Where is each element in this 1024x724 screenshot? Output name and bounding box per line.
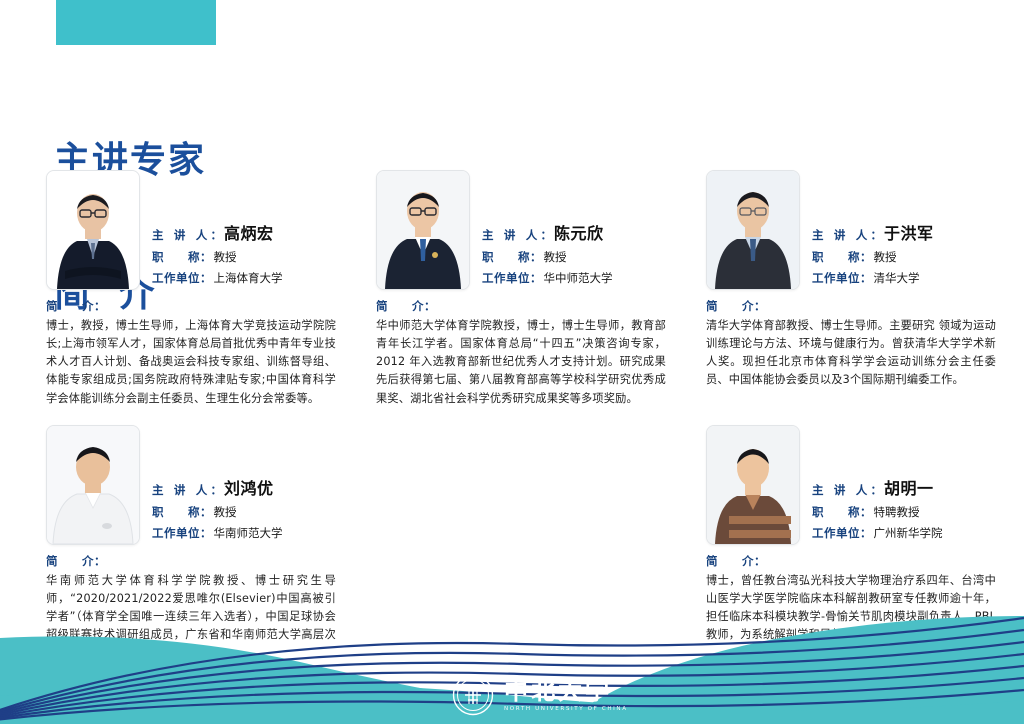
expert-meta: 主 讲 人 ： 刘鸿优 职 称 ： 教授 工作单位 ： 华南师范大学 [152,475,336,545]
job-title-value: 教授 [214,504,237,520]
speaker-label: 主 讲 人 [152,482,211,498]
affiliation-label: 工作单位 [482,270,530,286]
avatar [46,170,140,290]
job-title-row: 职 称 ： 教授 [812,249,996,265]
bio-text: 博士，教授，博士生导师，上海体育大学竞技运动学院院长;上海市领军人才，国家体育总… [46,317,336,408]
speaker-row: 主 讲 人 ： 刘鸿优 [152,475,336,499]
bio-label-text: 简 介 [706,299,754,313]
expert-card[interactable]: 主 讲 人 ： 陈元欣 职 称 ： 教授 工作单位 ： 华中师范大学 [376,170,666,408]
portrait-icon [707,426,799,544]
university-name-cn: 中北大学 [504,678,628,704]
expert-header: 主 讲 人 ： 刘鸿优 职 称 ： 教授 工作单位 ： 华南师范大学 [46,425,336,545]
avatar [376,170,470,290]
university-seal-icon [452,674,494,716]
affiliation-colon: ： [860,525,872,541]
bio-label-colon: ： [424,299,436,313]
bio-label-colon: ： [94,299,106,313]
bio-label-text: 简 介 [376,299,424,313]
affiliation-value: 华中师范大学 [544,270,613,286]
affiliation-row: 工作单位 ： 上海体育大学 [152,270,336,286]
bio-label: 简 介： [706,298,996,314]
university-logo: 中北大学 NORTH UNIVERSITY OF CHINA [452,674,628,716]
affiliation-colon: ： [530,270,542,286]
university-logo-text: 中北大学 NORTH UNIVERSITY OF CHINA [504,678,628,712]
expert-header: 主 讲 人 ： 于洪军 职 称 ： 教授 工作单位 ： 清华大学 [706,170,996,290]
affiliation-value: 上海体育大学 [214,270,283,286]
affiliation-value: 清华大学 [874,270,920,286]
speaker-label: 主 讲 人 [482,227,541,243]
portrait-photo [47,171,139,289]
speaker-colon: ： [541,227,553,243]
bio-text: 华中师范大学体育学院教授，博士，博士生导师，教育部青年长江学者。国家体育总局“十… [376,317,666,408]
expert-name: 高炳宏 [224,220,274,244]
job-title-value: 教授 [544,249,567,265]
job-title-value: 教授 [214,249,237,265]
job-title-label: 职 称 [152,249,200,265]
bio-label-colon: ： [94,554,106,568]
poster-page: 主讲专家 简 介 [0,0,1024,724]
expert-card[interactable]: 主 讲 人 ： 刘鸿优 职 称 ： 教授 工作单位 ： 华南师范大学 [46,425,336,663]
bio-label-text: 简 介 [46,554,94,568]
bio-label: 简 介： [706,553,996,569]
affiliation-row: 工作单位 ： 华中师范大学 [482,270,666,286]
bio-label-text: 简 介 [46,299,94,313]
speaker-row: 主 讲 人 ： 于洪军 [812,220,996,244]
job-title-value: 特聘教授 [874,504,920,520]
bio-label-text: 简 介 [706,554,754,568]
affiliation-row: 工作单位 ： 清华大学 [812,270,996,286]
job-title-label: 职 称 [482,249,530,265]
speaker-label: 主 讲 人 [152,227,211,243]
portrait-photo [707,171,799,289]
expert-header: 主 讲 人 ： 陈元欣 职 称 ： 教授 工作单位 ： 华中师范大学 [376,170,666,290]
portrait-icon [47,426,139,544]
affiliation-label: 工作单位 [152,525,200,541]
bio-text: 清华大学体育部教授、博士生导师。主要研究 领域为运动训练理论与方法、环境与健康行… [706,317,996,390]
expert-name: 刘鸿优 [224,475,274,499]
university-name-en: NORTH UNIVERSITY OF CHINA [504,706,628,712]
job-title-label: 职 称 [812,504,860,520]
speaker-row: 主 讲 人 ： 陈元欣 [482,220,666,244]
bio-label-colon: ： [754,554,766,568]
expert-name: 胡明一 [884,475,934,499]
expert-card[interactable]: 主 讲 人 ： 胡明一 职 称 ： 特聘教授 工作单位 ： 广州新华学院 [706,425,996,645]
speaker-label: 主 讲 人 [812,227,871,243]
bio-label: 简 介： [46,553,336,569]
job-title-colon: ： [860,249,872,265]
expert-meta: 主 讲 人 ： 胡明一 职 称 ： 特聘教授 工作单位 ： 广州新华学院 [812,475,996,545]
speaker-row: 主 讲 人 ： 胡明一 [812,475,996,499]
affiliation-value: 华南师范大学 [214,525,283,541]
job-title-colon: ： [200,249,212,265]
affiliation-colon: ： [200,270,212,286]
job-title-label: 职 称 [152,504,200,520]
affiliation-value: 广州新华学院 [874,525,943,541]
affiliation-label: 工作单位 [812,270,860,286]
speaker-colon: ： [871,227,883,243]
affiliation-colon: ： [860,270,872,286]
expert-card[interactable]: 主 讲 人 ： 于洪军 职 称 ： 教授 工作单位 ： 清华大学 [706,170,996,390]
speaker-label: 主 讲 人 [812,482,871,498]
expert-name: 于洪军 [884,220,934,244]
bio-text: 华南师范大学体育科学学院教授、博士研究生导师，“2020/2021/2022爱思… [46,572,336,663]
job-title-colon: ： [530,249,542,265]
job-title-row: 职 称 ： 教授 [482,249,666,265]
speaker-colon: ： [871,482,883,498]
affiliation-label: 工作单位 [812,525,860,541]
bio-label: 简 介： [376,298,666,314]
portrait-photo [47,426,139,544]
affiliation-row: 工作单位 ： 广州新华学院 [812,525,996,541]
portrait-icon [707,171,799,289]
job-title-colon: ： [860,504,872,520]
affiliation-row: 工作单位 ： 华南师范大学 [152,525,336,541]
affiliation-colon: ： [200,525,212,541]
affiliation-label: 工作单位 [152,270,200,286]
expert-header: 主 讲 人 ： 胡明一 职 称 ： 特聘教授 工作单位 ： 广州新华学院 [706,425,996,545]
bio-text: 博士，曾任教台湾弘光科技大学物理治疗系四年、台湾中山医学大学医学院临床本科解剖教… [706,572,996,645]
header-accent-block [56,0,216,45]
portrait-icon [377,171,469,289]
job-title-value: 教授 [874,249,897,265]
bio-label: 简 介： [46,298,336,314]
job-title-colon: ： [200,504,212,520]
job-title-row: 职 称 ： 教授 [152,249,336,265]
bio-label-colon: ： [754,299,766,313]
expert-name: 陈元欣 [554,220,604,244]
portrait-photo [707,426,799,544]
expert-meta: 主 讲 人 ： 于洪军 职 称 ： 教授 工作单位 ： 清华大学 [812,220,996,290]
job-title-label: 职 称 [812,249,860,265]
expert-meta: 主 讲 人 ： 高炳宏 职 称 ： 教授 工作单位 ： 上海体育大学 [152,220,336,290]
avatar [706,170,800,290]
expert-card[interactable]: 主 讲 人 ： 高炳宏 职 称 ： 教授 工作单位 ： 上海体育大学 [46,170,336,408]
portrait-photo [377,171,469,289]
avatar [706,425,800,545]
portrait-icon [47,171,139,289]
expert-header: 主 讲 人 ： 高炳宏 职 称 ： 教授 工作单位 ： 上海体育大学 [46,170,336,290]
speaker-colon: ： [211,482,223,498]
expert-meta: 主 讲 人 ： 陈元欣 职 称 ： 教授 工作单位 ： 华中师范大学 [482,220,666,290]
speaker-row: 主 讲 人 ： 高炳宏 [152,220,336,244]
job-title-row: 职 称 ： 特聘教授 [812,504,996,520]
job-title-row: 职 称 ： 教授 [152,504,336,520]
avatar [46,425,140,545]
speaker-colon: ： [211,227,223,243]
